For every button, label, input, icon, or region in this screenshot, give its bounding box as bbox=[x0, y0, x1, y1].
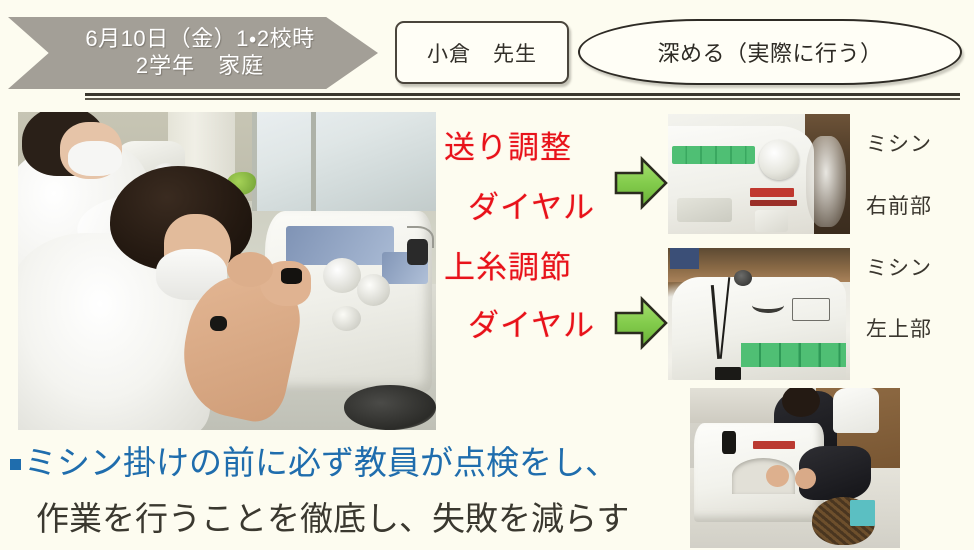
teal-item bbox=[850, 500, 875, 526]
student-hand-right bbox=[795, 468, 816, 489]
classroom-window bbox=[252, 112, 436, 211]
needle-area bbox=[281, 268, 302, 284]
classroom-photo-content bbox=[18, 112, 436, 430]
power-cords bbox=[344, 385, 436, 430]
thread-base bbox=[715, 367, 740, 380]
cord-bundle bbox=[806, 136, 846, 227]
summary-line-1-text: ミシン掛けの前に必ず教員が点検をし、 bbox=[24, 436, 618, 484]
classroom-photo bbox=[18, 112, 436, 430]
annotation-upper-thread-line1: 上糸調節 bbox=[444, 242, 572, 287]
date-banner-line1: 6月10日（金）1・2校時 bbox=[85, 26, 314, 53]
needle-plate bbox=[677, 198, 732, 222]
machine-left-top-photo bbox=[668, 248, 850, 380]
teacher-name-box: 小倉 先生 bbox=[395, 21, 569, 84]
square-bullet-icon bbox=[10, 459, 21, 470]
small-dark-object bbox=[210, 316, 227, 332]
machine-dial-1 bbox=[323, 258, 361, 293]
machine-dial-2 bbox=[357, 274, 390, 306]
caption-right-front: 右前部 bbox=[866, 190, 932, 220]
header-divider-bottom-bar bbox=[85, 98, 960, 100]
machine-dial-3 bbox=[332, 306, 361, 331]
teacher-name-label: 小倉 先生 bbox=[427, 38, 537, 68]
presser-foot-area bbox=[755, 210, 788, 232]
back-student-mask bbox=[68, 141, 122, 176]
summary-block: ミシン掛けの前に必ず教員が点検をし、 作業を行うことを徹底し、失敗を減らす bbox=[10, 436, 700, 540]
student-working-photo bbox=[690, 388, 900, 548]
annotation-feed-adjust-line2: ダイヤル bbox=[468, 182, 595, 227]
green-sticker-strip bbox=[741, 343, 847, 367]
green-sticker-strip bbox=[672, 146, 756, 164]
threading-diagram bbox=[792, 298, 830, 321]
front-student-hand-2 bbox=[227, 252, 273, 287]
brand-logo-mark bbox=[750, 188, 794, 196]
date-banner-text: 6月10日（金）1・2校時 2学年 家庭 bbox=[8, 17, 378, 89]
machine-right-front-content bbox=[668, 114, 850, 234]
background-person bbox=[670, 248, 699, 269]
caption-machine-2: ミシン bbox=[866, 252, 932, 282]
student-working-content bbox=[690, 388, 900, 548]
lesson-phase-pill: 深める（実際に行う） bbox=[578, 19, 962, 85]
machine-right-front-photo bbox=[668, 114, 850, 234]
upper-thread-tension-dial bbox=[734, 270, 752, 286]
slide-canvas: 6月10日（金）1・2校時 2学年 家庭 小倉 先生 深める（実際に行う） bbox=[0, 0, 974, 550]
feed-adjust-dial bbox=[759, 140, 799, 180]
thread-spool bbox=[407, 239, 428, 264]
brand-logo-mark bbox=[753, 441, 795, 449]
annotation-feed-adjust-line1: 送り調整 bbox=[444, 122, 572, 167]
summary-line-2: 作業を行うことを徹底し、失敗を減らす bbox=[36, 492, 700, 540]
annotation-upper-thread-line2: ダイヤル bbox=[468, 300, 595, 345]
lesson-phase-label: 深める（実際に行う） bbox=[657, 36, 882, 68]
right-arrow-icon bbox=[612, 294, 670, 352]
caption-machine-1: ミシン bbox=[866, 128, 932, 158]
student-hand-left bbox=[766, 465, 789, 487]
caption-left-top: 左上部 bbox=[866, 313, 932, 343]
brand-model-mark bbox=[750, 200, 797, 206]
header-divider bbox=[85, 93, 960, 101]
date-banner-line2: 2学年 家庭 bbox=[136, 53, 264, 80]
right-arrow-icon bbox=[612, 154, 670, 212]
machine-left-top-content bbox=[668, 248, 850, 380]
header-divider-top-bar bbox=[85, 93, 960, 96]
thread-spool bbox=[722, 431, 737, 453]
threading-guide-mark bbox=[752, 297, 785, 313]
other-student-shirt bbox=[833, 388, 879, 433]
date-banner: 6月10日（金）1・2校時 2学年 家庭 bbox=[8, 17, 378, 89]
summary-line-1: ミシン掛けの前に必ず教員が点検をし、 bbox=[10, 436, 700, 484]
window-mullion bbox=[311, 112, 316, 211]
